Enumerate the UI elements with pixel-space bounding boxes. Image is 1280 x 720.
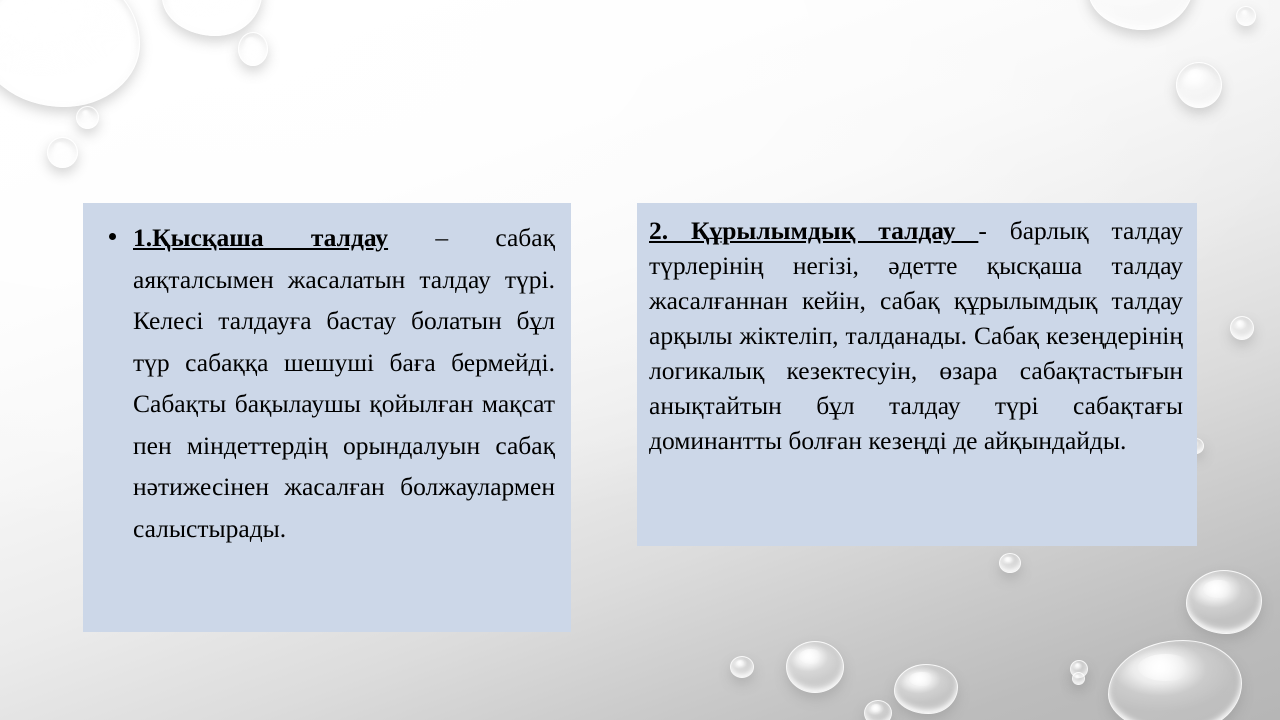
water-droplet-icon [1186,570,1262,634]
water-droplet-icon [1108,640,1242,720]
water-droplet-icon [1230,316,1254,340]
water-droplet-icon [730,656,754,678]
right-paragraph-lead: 2. Құрылымдық талдау [649,216,978,245]
water-droplet-icon [162,0,262,36]
left-paragraph-body: – сабақ аяқталсымен жасалатын талдау түр… [133,223,555,543]
slide-canvas: 1.Қысқаша талдау – сабақ аяқталсымен жас… [0,0,1280,720]
water-droplet-icon [786,641,844,693]
water-droplet-icon [1072,672,1085,685]
water-droplet-icon [894,664,958,714]
water-droplet-icon [1088,0,1194,30]
water-droplet-icon [1236,6,1256,26]
right-paragraph-body: - барлық талдау түрлерінің негізі, әдетт… [649,216,1183,455]
bullet-point-icon [109,233,116,240]
water-droplet-icon [999,553,1021,573]
water-droplet-icon [76,106,99,129]
left-paragraph-lead: 1.Қысқаша талдау [133,223,388,252]
right-paragraph: 2. Құрылымдық талдау - барлық талдау түр… [649,213,1183,458]
right-content-textbox[interactable]: 2. Құрылымдық талдау - барлық талдау түр… [637,203,1197,546]
left-bullet-paragraph: 1.Қысқаша талдау – сабақ аяқталсымен жас… [93,217,555,549]
water-droplet-icon [1176,62,1222,108]
water-droplet-icon [47,137,78,168]
left-content-textbox[interactable]: 1.Қысқаша талдау – сабақ аяқталсымен жас… [83,203,571,632]
water-droplet-icon [0,0,140,107]
water-droplet-icon [864,700,892,720]
water-droplet-icon [238,32,268,66]
